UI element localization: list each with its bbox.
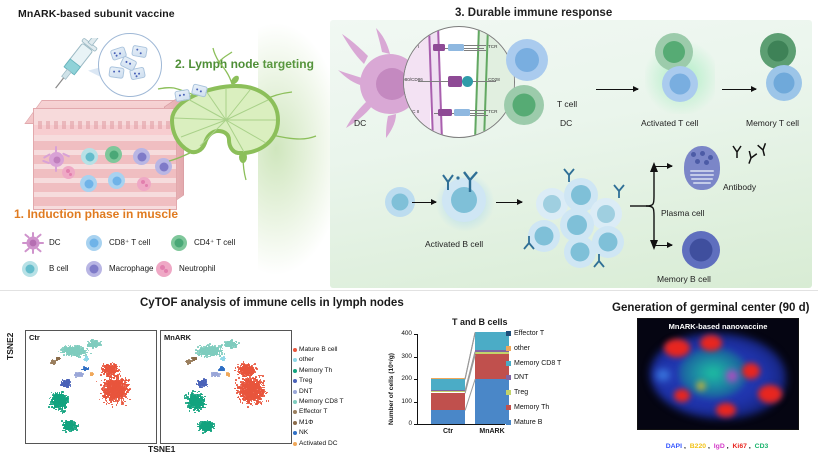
y-tick [414, 424, 417, 425]
legend-label: M1Φ [299, 419, 313, 426]
bar-segment[interactable] [475, 379, 509, 424]
marker-label: DAPI [666, 443, 682, 450]
tsne2-axis-label: TSNE2 [5, 333, 15, 360]
bar-segment[interactable] [475, 350, 509, 351]
y-tick [414, 357, 417, 358]
immune-synapse-detail: MHC I TCR CD80/CD86 CD28 MHC II TCR [403, 26, 515, 138]
synapse-label-mhc2: MHC II [405, 109, 419, 114]
legend-swatch [293, 421, 297, 425]
bar-segment[interactable] [475, 332, 509, 350]
legend-label: Memory CD8 T [514, 360, 561, 367]
legend-swatch [506, 405, 511, 410]
legend-label: Mature B [514, 419, 542, 426]
antibody-icon [730, 142, 776, 168]
activated-t-cell-blue [662, 66, 698, 102]
y-tick-label: 100 [395, 398, 412, 405]
y-tick [414, 379, 417, 380]
legend-label: DNT [514, 374, 528, 381]
y-tick [414, 402, 417, 403]
germinal-image-title: MnARK-based nanovaccine [638, 322, 798, 331]
legend-label: Memory CD8 T [299, 398, 344, 405]
t-cell-green [504, 85, 544, 125]
y-axis [417, 334, 418, 424]
legend-label: Activated DC [299, 440, 337, 447]
germinal-center-image: MnARK-based nanovaccine [637, 318, 799, 430]
legend-swatch [506, 375, 511, 380]
arrow-t-activation [596, 89, 638, 90]
bar-segment[interactable] [475, 352, 509, 355]
marker-label: Ki67 [733, 443, 747, 450]
legend-label: Effector T [514, 330, 544, 337]
marker-label: CD3 [755, 443, 769, 450]
legend-label: other [299, 356, 314, 363]
tsne-plot-ctr[interactable]: Ctr [25, 330, 157, 444]
x-category-label: MnARK [470, 428, 514, 435]
marker-label: B220 [690, 443, 706, 450]
activated-t-cell-green [655, 33, 693, 71]
branch-bracket [630, 160, 680, 252]
legend-swatch [506, 420, 511, 425]
synapse-label-tcr-1: TCR [488, 44, 497, 49]
x-category-label: Ctr [426, 428, 470, 435]
bar-segment[interactable] [431, 410, 465, 424]
y-tick-label: 300 [395, 353, 412, 360]
label-memory-t-cell: Memory T cell [746, 118, 799, 128]
legend-label: Mature B cell [299, 346, 337, 353]
legend-label: Effector T [299, 408, 327, 415]
plasma-cell [684, 146, 720, 190]
legend-swatch [293, 410, 297, 414]
arrow-plasma [654, 166, 672, 167]
label-memory-b-cell: Memory B cell [657, 274, 711, 284]
memory-t-cell-blue [766, 65, 802, 101]
bar-y-axis-label: Number of cells (10⁶/g) [388, 353, 395, 425]
legend-swatch [293, 358, 297, 362]
x-axis [417, 424, 505, 425]
germinal-center-title: Generation of germinal center (90 d) [612, 302, 809, 314]
synapse-label-mhc1: MHC I [406, 44, 419, 49]
bar-chart-title: T and B cells [452, 317, 508, 327]
y-tick-label: 0 [395, 420, 412, 427]
legend-swatch [506, 390, 511, 395]
label-t-cell: T cell [557, 99, 577, 109]
section-divider [0, 290, 818, 291]
y-tick-label: 200 [395, 375, 412, 382]
memory-t-cell-green [760, 33, 796, 69]
legend-swatch [293, 379, 297, 383]
label-plasma-cell: Plasma cell [661, 208, 704, 218]
synapse-label-cd28: CD28 [488, 77, 500, 82]
legend-swatch [293, 431, 297, 435]
synapse-label-tcr-2: TCR [488, 109, 497, 114]
cytof-title: CyTOF analysis of immune cells in lymph … [140, 297, 404, 309]
germinal-marker-legend: DAPI, B220, IgD, Ki67, CD3 [637, 443, 797, 450]
legend-label: NK [299, 429, 308, 436]
legend-swatch [293, 400, 297, 404]
legend-label: Treg [514, 389, 528, 396]
legend-swatch [293, 369, 297, 373]
bar-segment[interactable] [431, 379, 465, 390]
legend-label: Treg [299, 377, 312, 384]
legend-label: other [514, 345, 530, 352]
bar-segment[interactable] [431, 391, 465, 393]
y-tick [414, 334, 417, 335]
legend-swatch [293, 348, 297, 352]
label-antibody: Antibody [723, 182, 756, 192]
legend-swatch [506, 331, 511, 336]
tsne1-axis-label: TSNE1 [148, 444, 175, 454]
legend-label: DNT [299, 388, 313, 395]
tsne-plot-mnark[interactable]: MnARK [160, 330, 292, 444]
label-activated-t-cell: Activated T cell [641, 118, 698, 128]
bcr-icon [436, 168, 496, 194]
arrow-t-memory [722, 89, 756, 90]
t-cell-blue [506, 39, 548, 81]
legend-swatch [506, 361, 511, 366]
bar-segment[interactable] [475, 354, 509, 379]
y-tick-label: 400 [395, 330, 412, 337]
arrow-b-proliferate [496, 202, 522, 203]
naive-b-cell [385, 187, 415, 217]
label-dc: DC [560, 118, 572, 128]
legend-swatch [506, 346, 511, 351]
panel3-title: 3. Durable immune response [455, 7, 612, 19]
legend-label: Memory Th [514, 404, 549, 411]
memory-b-cell [682, 231, 720, 269]
legend-label: Memory Th [299, 367, 332, 374]
label-activated-b-cell: Activated B cell [425, 239, 483, 249]
legend-swatch [293, 390, 297, 394]
legend-swatch [293, 442, 297, 446]
bar-chart[interactable]: 0100200300400CtrMnARK [395, 330, 505, 440]
synapse-label-cd80-cd86: CD80/CD86 [403, 77, 423, 82]
marker-label: IgD [714, 443, 725, 450]
arrow-memory-b [654, 245, 672, 246]
label-dc-main: DC [354, 118, 366, 128]
bar-segment[interactable] [431, 393, 465, 411]
bar-segment[interactable] [431, 390, 465, 391]
